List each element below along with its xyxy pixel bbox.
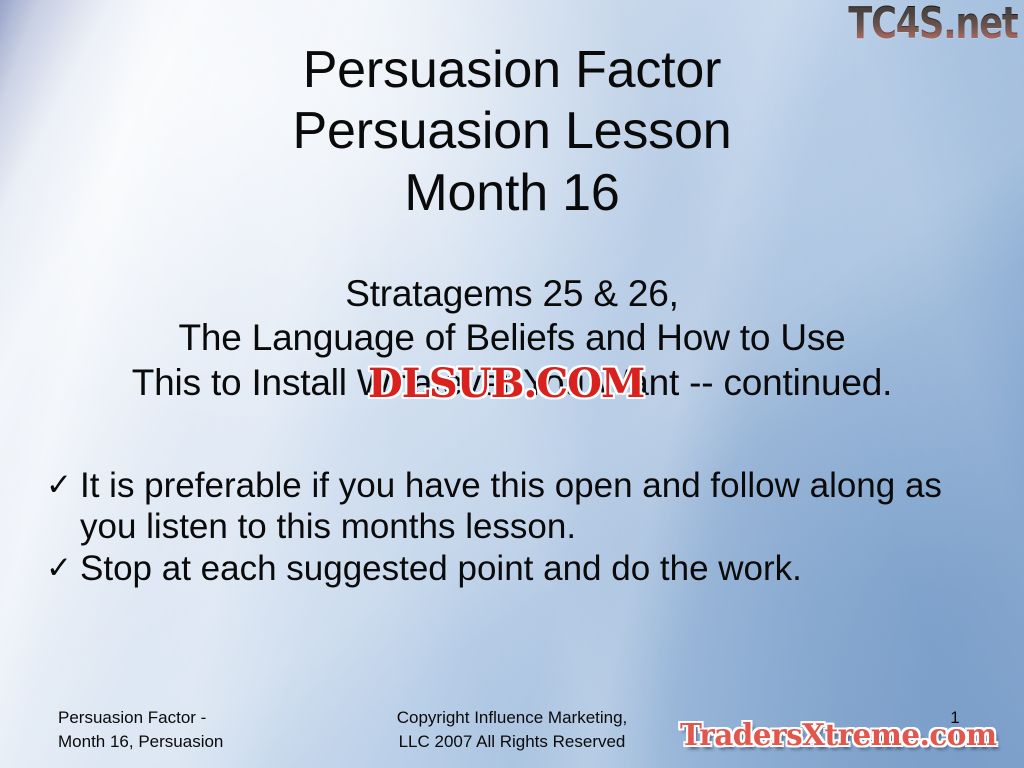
checkmark-icon: ✓: [46, 549, 80, 587]
tradersxtreme-com-logo: TradersXtreme.com: [680, 718, 997, 753]
presentation-slide: TC4S.net Persuasion Factor Persuasion Le…: [0, 0, 1024, 768]
footer-left-line-2: Month 16, Persuasion: [58, 730, 223, 754]
list-item: ✓ Stop at each suggested point and do th…: [46, 549, 984, 590]
list-item: ✓ It is preferable if you have this open…: [46, 466, 984, 547]
bullet-text: It is preferable if you have this open a…: [80, 466, 984, 547]
slide-title: Persuasion Factor Persuasion Lesson Mont…: [0, 40, 1024, 224]
copyright-line-1: Copyright Influence Marketing,: [372, 706, 652, 730]
footer-left: Persuasion Factor - Month 16, Persuasion: [58, 706, 223, 754]
dlsub-watermark: DLSUB.COM: [368, 360, 644, 407]
title-line-3: Month 16: [0, 163, 1024, 224]
bullet-list: ✓ It is preferable if you have this open…: [46, 466, 984, 592]
title-line-2: Persuasion Lesson: [0, 101, 1024, 162]
footer-left-line-1: Persuasion Factor -: [58, 706, 223, 730]
checkmark-icon: ✓: [46, 466, 80, 504]
title-line-1: Persuasion Factor: [0, 40, 1024, 101]
subtitle-line-2: The Language of Beliefs and How to Use: [0, 316, 1024, 360]
bullet-text: Stop at each suggested point and do the …: [80, 549, 984, 590]
subtitle-line-1: Stratagems 25 & 26,: [0, 272, 1024, 316]
footer-copyright: Copyright Influence Marketing, LLC 2007 …: [372, 706, 652, 754]
copyright-line-2: LLC 2007 All Rights Reserved: [372, 730, 652, 754]
